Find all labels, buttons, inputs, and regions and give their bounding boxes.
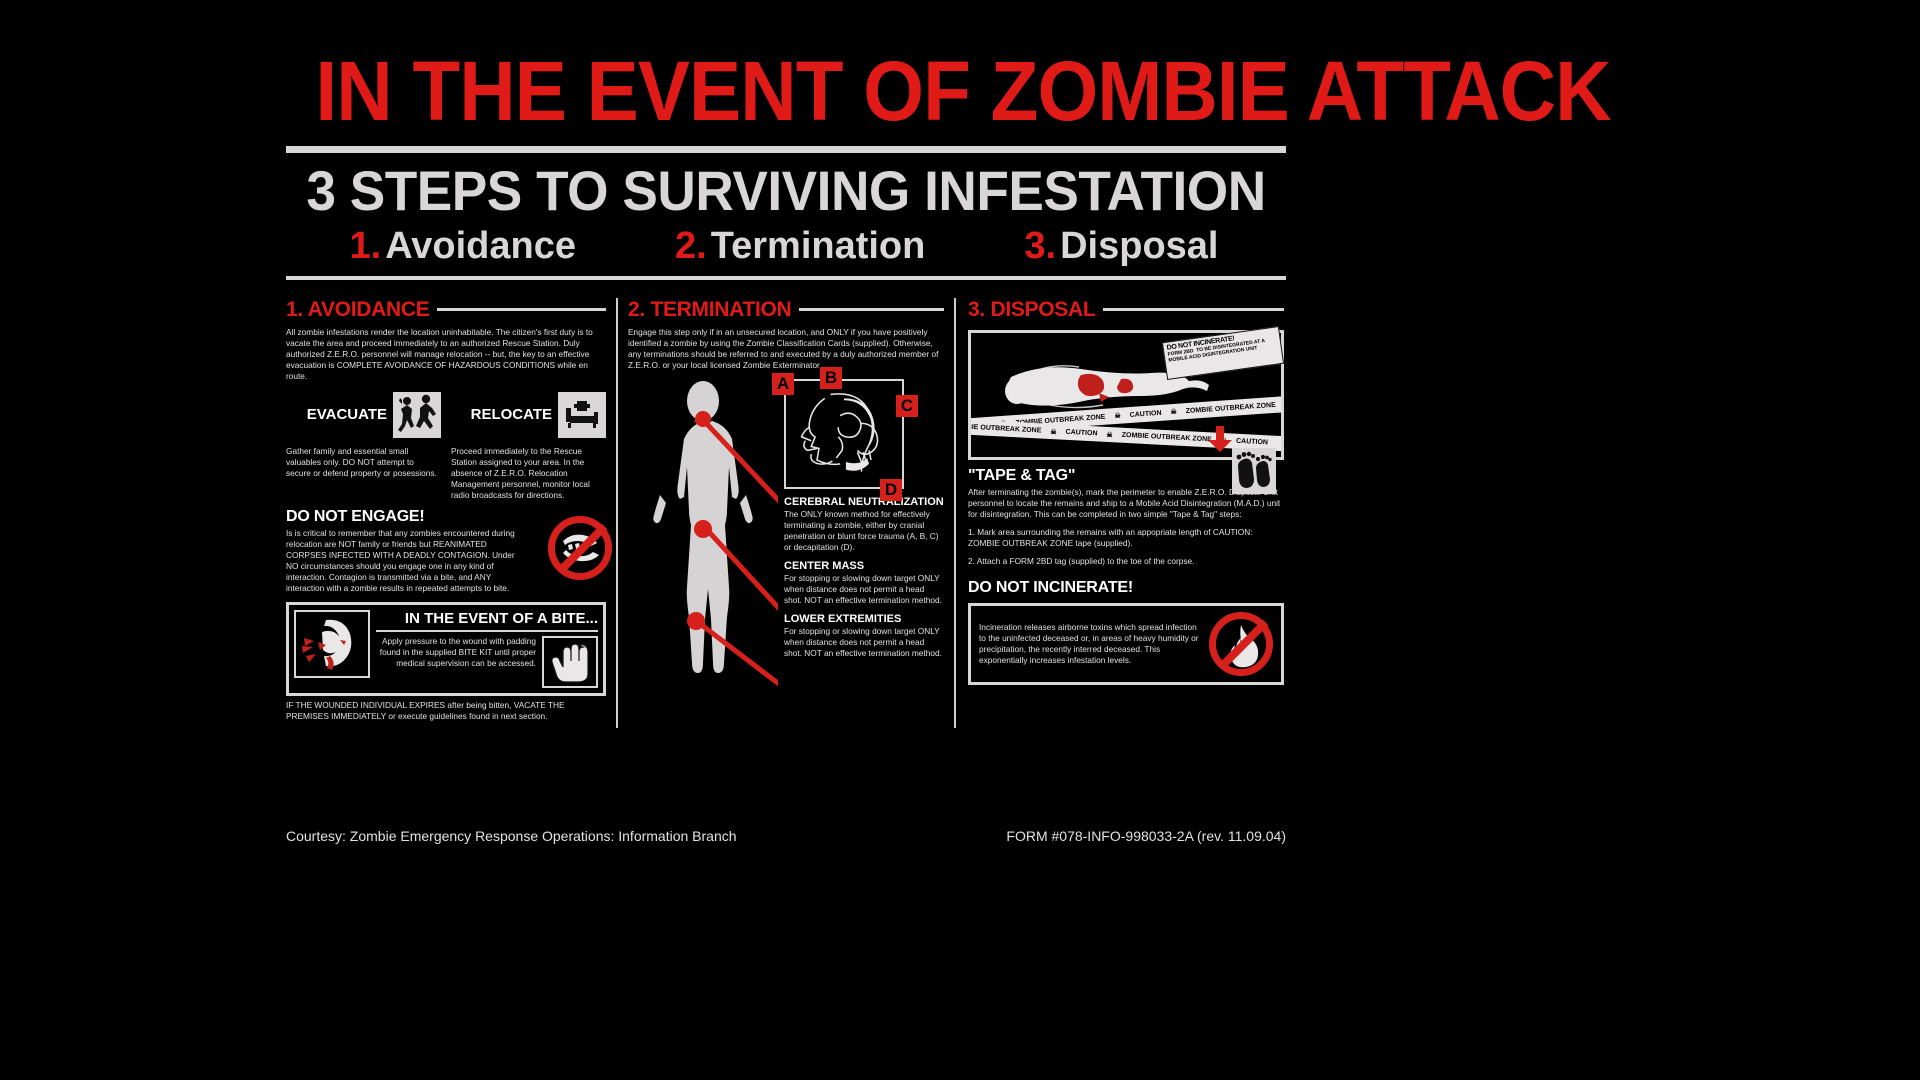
tape-and-tag-step-2: 2. Attach a FORM 2BD tag (supplied) to t… (968, 556, 1284, 567)
tagged-toe-feet-icon (1232, 448, 1276, 494)
do-not-incinerate-title: DO NOT INCINERATE! (968, 579, 1284, 597)
evacuate-label: EVACUATE (286, 406, 387, 423)
bandaged-hand-icon (542, 636, 598, 688)
step-label-3: Disposal (1060, 225, 1218, 267)
do-not-incinerate-body: Incineration releases airborne toxins wh… (979, 622, 1201, 666)
bite-paragraph-1: Apply pressure to the wound with padding… (376, 636, 536, 688)
tape-and-tag-step-1: 1. Mark area surrounding the remains wit… (968, 527, 1284, 549)
termination-heading-row: 2. TERMINATION (628, 298, 944, 322)
subtitle-divider-thin (286, 276, 1286, 280)
relocate-description: Proceed immediately to the Rescue Statio… (451, 446, 606, 501)
avoidance-intro: All zombie infestations render the locat… (286, 327, 606, 382)
marker-d: D (880, 479, 902, 501)
disposal-heading: 3. DISPOSAL (968, 298, 1095, 322)
termination-intro: Engage this step only if in an unsecured… (628, 327, 944, 371)
page-subtitle: 3 STEPS TO SURVIVING INFESTATION (305, 163, 1266, 219)
running-people-icon (393, 392, 441, 438)
bite-paragraph-2: IF THE WOUNDED INDIVIDUAL EXPIRES after … (286, 700, 606, 722)
steps-summary-row: 1.Avoidance 2.Termination 3.Disposal (280, 225, 1292, 268)
target-body-lower-extremities: For stopping or slowing down target ONLY… (784, 626, 944, 659)
step-number-1: 1. (350, 225, 382, 267)
avoidance-heading-rule (437, 308, 606, 311)
title-divider-thick (286, 146, 1286, 153)
termination-heading: 2. TERMINATION (628, 298, 791, 322)
termination-heading-rule (799, 308, 944, 311)
skull-icon-4: ☠ (1050, 427, 1057, 435)
target-body-center-mass: For stopping or slowing down target ONLY… (784, 573, 944, 606)
avoidance-heading-row: 1. AVOIDANCE (286, 298, 606, 322)
bite-right-column: IN THE EVENT OF A BITE... Apply pressure… (376, 610, 598, 688)
marker-a: A (772, 373, 794, 395)
footer-courtesy: Courtesy: Zombie Emergency Response Oper… (286, 828, 737, 844)
tape-label-caution-2: CAUTION (1129, 409, 1161, 418)
step-summary-3: 3.Disposal (1024, 225, 1218, 268)
relocate-caption-row: RELOCATE (451, 392, 606, 438)
skull-icon-2: ☠ (1114, 411, 1121, 419)
evacuate-block: EVACUATE (286, 392, 441, 501)
do-not-incinerate-box: Incineration releases airborne toxins wh… (968, 603, 1284, 685)
tape-label-caution-4: CAUTION (1236, 438, 1268, 447)
column-avoidance: 1. AVOIDANCE All zombie infestations ren… (286, 298, 616, 728)
avoidance-heading: 1. AVOIDANCE (286, 298, 429, 322)
target-title-cerebral: CEREBRAL NEUTRALIZATION (784, 496, 944, 508)
relocate-label: RELOCATE (451, 406, 552, 423)
target-body-cerebral: The ONLY known method for effectively te… (784, 509, 944, 553)
evacuate-relocate-pair: EVACUATE (286, 392, 606, 501)
skull-icon-3: ☠ (1170, 408, 1177, 416)
termination-diagram-wrap: A B C D CEREBRAL NEUTRALIZATION The ONLY… (628, 379, 944, 714)
skull-icon-5: ☠ (1106, 430, 1113, 438)
relocate-block: RELOCATE (451, 392, 606, 501)
three-column-body: 1. AVOIDANCE All zombie infestations ren… (280, 298, 1292, 728)
no-biting-prohibition-icon (548, 516, 612, 580)
page-title: IN THE EVENT OF ZOMBIE ATTACK (315, 0, 1256, 132)
step-number-3: 3. (1024, 225, 1056, 267)
termination-target-list: CEREBRAL NEUTRALIZATION The ONLY known m… (784, 496, 944, 659)
poster-footer: Courtesy: Zombie Emergency Response Oper… (286, 828, 1286, 844)
bite-instructions-box: IN THE EVENT OF A BITE... Apply pressure… (286, 602, 606, 696)
bitten-neck-victim-icon (294, 610, 370, 678)
bite-title-rule (376, 630, 598, 632)
marker-b: B (820, 367, 842, 389)
bite-left-column (294, 610, 370, 688)
step-label-2: Termination (711, 225, 926, 267)
tape-label-zombie-2: ZOMBIE OUTBREAK ZONE (1185, 401, 1276, 414)
disposal-heading-row: 3. DISPOSAL (968, 298, 1284, 322)
evacuate-caption-row: EVACUATE (286, 392, 441, 438)
bite-title: IN THE EVENT OF A BITE... (376, 610, 598, 627)
target-title-lower-extremities: LOWER EXTREMITIES (784, 613, 944, 625)
step-label-1: Avoidance (385, 225, 576, 267)
human-silhouette-target-icon (628, 379, 778, 714)
do-not-engage-body: Is is critical to remember that any zomb… (286, 528, 516, 594)
zombie-attack-poster: IN THE EVENT OF ZOMBIE ATTACK 3 STEPS TO… (280, 0, 1292, 880)
tape-label-zombie-3: ZOMBIE OUTBREAK ZONE (968, 423, 1042, 435)
step-summary-2: 2.Termination (675, 225, 925, 268)
red-down-arrow-icon (1198, 426, 1238, 452)
footer-form-number: FORM #078-INFO-998033-2A (rev. 11.09.04) (1006, 828, 1286, 844)
hospital-bed-icon (558, 392, 606, 438)
target-title-center-mass: CENTER MASS (784, 560, 944, 572)
step-number-2: 2. (675, 225, 707, 267)
no-fire-prohibition-icon (1209, 612, 1273, 676)
disposal-heading-rule (1103, 308, 1284, 311)
column-disposal: 3. DISPOSAL (954, 298, 1284, 728)
marker-c: C (896, 395, 918, 417)
column-termination: 2. TERMINATION Engage this step only if … (616, 298, 954, 728)
head-cross-section-anatomy-icon: A B C D (784, 379, 904, 489)
step-summary-1: 1.Avoidance (350, 225, 576, 268)
evacuate-description: Gather family and essential small valuab… (286, 446, 441, 479)
tape-label-caution-3: CAUTION (1065, 429, 1097, 438)
